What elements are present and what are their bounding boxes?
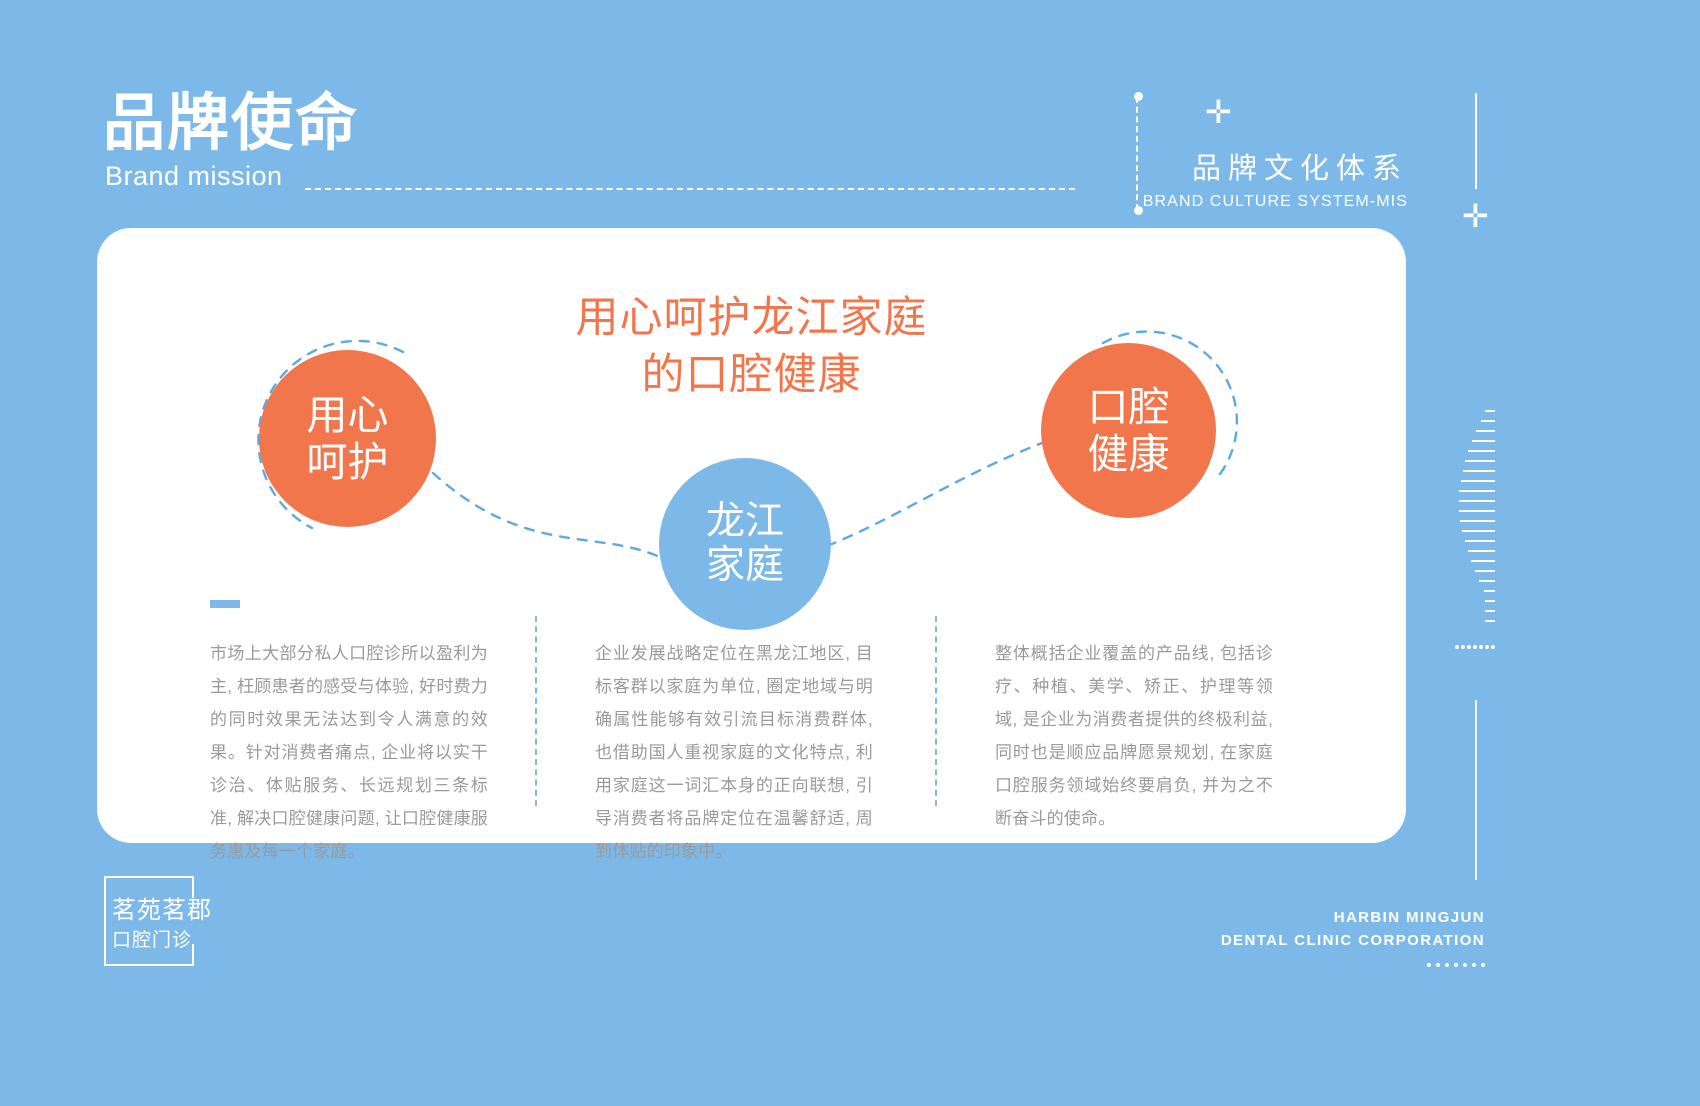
footer-dots bbox=[1221, 959, 1485, 971]
description-columns: 市场上大部分私人口腔诊所以盈利为主, 枉顾患者的感受与体验, 好时费力的同时效果… bbox=[97, 600, 1406, 830]
company-footer: HARBIN MINGJUN DENTAL CLINIC CORPORATION bbox=[1221, 906, 1485, 971]
description-column-1: 市场上大部分私人口腔诊所以盈利为主, 枉顾患者的感受与体验, 好时费力的同时效果… bbox=[210, 600, 488, 899]
mission-headline-line-1: 用心呵护龙江家庭 bbox=[97, 290, 1406, 347]
column-dash-marker-top bbox=[210, 600, 240, 608]
brand-system-label: 品牌文化体系 BRAND CULTURE SYSTEM-MIS bbox=[1143, 145, 1408, 211]
circle-left[interactable]: 用心 呵护 bbox=[259, 350, 436, 527]
header-vertical-dotted-divider bbox=[1136, 97, 1140, 210]
description-column-3-text: 整体概括企业覆盖的产品线, 包括诊疗、种植、美学、矫正、护理等领域, 是企业为消… bbox=[995, 638, 1273, 836]
circle-right-line-2: 健康 bbox=[1088, 431, 1170, 478]
brand-logo: 茗苑茗郡 口腔门诊 bbox=[112, 896, 212, 953]
circle-left-line-2: 呵护 bbox=[307, 439, 389, 486]
logo-name: 茗苑茗郡 bbox=[112, 896, 212, 926]
right-edge-tick-marks bbox=[1455, 410, 1495, 635]
slide-header: 品牌使命 Brand mission ✛ ✛ 品牌文化体系 BRAND CULT… bbox=[0, 0, 1700, 230]
circle-middle-line-1: 龙江 bbox=[706, 500, 784, 544]
column-dash-marker-bottom bbox=[210, 891, 240, 899]
header-dashed-rule bbox=[305, 188, 1075, 190]
column-dash-marker-bottom bbox=[1187, 858, 1217, 866]
page-title-block: 品牌使命 Brand mission bbox=[103, 92, 359, 192]
column-divider-2 bbox=[935, 616, 937, 806]
logo-subtitle: 口腔门诊 bbox=[112, 929, 212, 953]
circle-middle-line-2: 家庭 bbox=[706, 544, 784, 588]
circle-left-line-1: 用心 bbox=[307, 392, 389, 439]
content-card: 用心呵护龙江家庭 的口腔健康 用心 呵护 龙江 家庭 bbox=[97, 228, 1406, 843]
brand-system-en: BRAND CULTURE SYSTEM-MIS bbox=[1143, 193, 1408, 211]
description-column-3: 整体概括企业覆盖的产品线, 包括诊疗、种植、美学、矫正、护理等领域, 是企业为消… bbox=[995, 600, 1273, 866]
circle-right-line-1: 口腔 bbox=[1088, 384, 1170, 431]
right-edge-rule-lower bbox=[1475, 700, 1477, 880]
brand-system-cn: 品牌文化体系 bbox=[1143, 145, 1408, 187]
column-divider-1 bbox=[535, 616, 537, 806]
description-column-2-text: 企业发展战略定位在黑龙江地区, 目标客群以家庭为单位, 圈定地域与明确属性能够有… bbox=[595, 638, 873, 869]
right-edge-dots bbox=[1455, 645, 1499, 659]
circle-right[interactable]: 口腔 健康 bbox=[1041, 343, 1216, 518]
description-column-2: 企业发展战略定位在黑龙江地区, 目标客群以家庭为单位, 圈定地域与明确属性能够有… bbox=[595, 600, 873, 869]
company-line-2: DENTAL CLINIC CORPORATION bbox=[1221, 929, 1485, 952]
slide-root: 品牌使命 Brand mission ✛ ✛ 品牌文化体系 BRAND CULT… bbox=[0, 0, 1700, 1106]
company-line-1: HARBIN MINGJUN bbox=[1221, 906, 1485, 929]
page-title: 品牌使命 bbox=[103, 92, 359, 155]
plus-icon: ✛ bbox=[1462, 200, 1489, 232]
plus-icon: ✛ bbox=[1205, 96, 1232, 128]
right-edge-rule bbox=[1475, 93, 1477, 189]
description-column-1-text: 市场上大部分私人口腔诊所以盈利为主, 枉顾患者的感受与体验, 好时费力的同时效果… bbox=[210, 638, 488, 869]
